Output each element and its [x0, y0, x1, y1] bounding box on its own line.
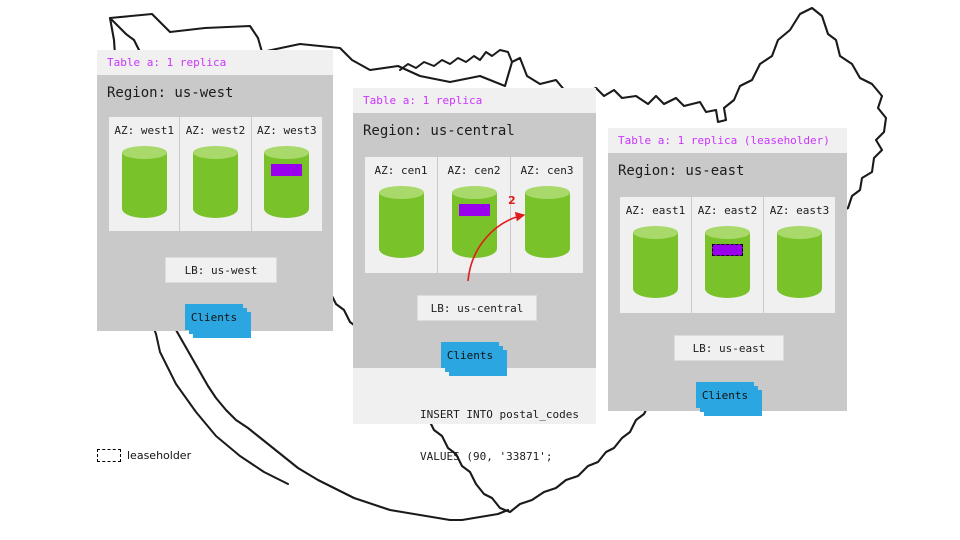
- node-cylinder-cen3[interactable]: [525, 186, 570, 258]
- region-panel-us-east: Table a: 1 replica (leaseholder) Region:…: [608, 128, 847, 411]
- cylinder-top: [379, 186, 424, 199]
- region-label-us-central: Region: us-central: [353, 113, 596, 147]
- load-balancer-us-west[interactable]: LB: us-west: [165, 257, 277, 283]
- az-cell-west2[interactable]: AZ: west2: [180, 117, 251, 231]
- cylinder-top: [264, 146, 309, 159]
- cylinder-body: [633, 232, 678, 298]
- az-label-cen1: AZ: cen1: [375, 164, 428, 177]
- node-cylinder-east1[interactable]: [633, 226, 678, 298]
- az-label-west2: AZ: west2: [186, 124, 246, 137]
- replica-block-east2-leaseholder[interactable]: [712, 244, 743, 256]
- region-panel-us-west: Table a: 1 replica Region: us-west AZ: w…: [97, 50, 333, 331]
- region-label-us-east: Region: us-east: [608, 153, 847, 187]
- cylinder-top: [193, 146, 238, 159]
- sql-line-1: INSERT INTO postal_codes: [420, 408, 579, 422]
- arrow-step-label-2: 2: [508, 194, 516, 207]
- dashed-rect-swatch-icon: [97, 449, 121, 462]
- sql-line-2: VALUES (90, '33871';: [420, 450, 579, 464]
- az-cell-east1[interactable]: AZ: east1: [620, 197, 692, 313]
- region-label-us-west: Region: us-west: [97, 75, 333, 109]
- cylinder-body: [452, 192, 497, 258]
- replica-block-west3[interactable]: [271, 164, 302, 176]
- az-strip-us-west: AZ: west1 AZ: west2 AZ: west3: [109, 117, 322, 231]
- az-cell-cen2[interactable]: AZ: cen2: [438, 157, 511, 273]
- region-body-us-east: Region: us-east AZ: east1 AZ: east2: [608, 153, 847, 411]
- node-cylinder-cen1[interactable]: [379, 186, 424, 258]
- legend-label: leaseholder: [127, 449, 191, 462]
- clients-button-us-east[interactable]: Clients: [696, 382, 754, 408]
- cylinder-body: [705, 232, 750, 298]
- legend: leaseholder: [97, 449, 191, 462]
- az-strip-us-central: AZ: cen1 AZ: cen2 AZ: cen3: [365, 157, 583, 273]
- clients-stack-us-central[interactable]: Clients: [441, 342, 507, 376]
- table-replica-title-west: Table a: 1 replica: [97, 50, 333, 74]
- clients-button-us-west[interactable]: Clients: [185, 304, 243, 330]
- node-cylinder-west1[interactable]: [122, 146, 167, 218]
- node-cylinder-east3[interactable]: [777, 226, 822, 298]
- load-balancer-us-central[interactable]: LB: us-central: [417, 295, 537, 321]
- az-label-east1: AZ: east1: [626, 204, 686, 217]
- az-label-east2: AZ: east2: [698, 204, 758, 217]
- cylinder-top: [452, 186, 497, 199]
- cylinder-body: [777, 232, 822, 298]
- region-body-us-central: Region: us-central AZ: cen1 AZ: cen2: [353, 113, 596, 368]
- az-strip-us-east: AZ: east1 AZ: east2 AZ: east3: [620, 197, 835, 313]
- sql-statement: INSERT INTO postal_codes VALUES (90, '33…: [420, 380, 579, 492]
- az-cell-west3[interactable]: AZ: west3: [252, 117, 322, 231]
- az-cell-east3[interactable]: AZ: east3: [764, 197, 835, 313]
- az-label-cen3: AZ: cen3: [521, 164, 574, 177]
- cylinder-top: [705, 226, 750, 239]
- cylinder-body: [379, 192, 424, 258]
- cylinder-body: [193, 152, 238, 218]
- load-balancer-us-east[interactable]: LB: us-east: [674, 335, 784, 361]
- az-cell-east2[interactable]: AZ: east2: [692, 197, 764, 313]
- region-panel-us-central: Table a: 1 replica Region: us-central AZ…: [353, 88, 596, 424]
- clients-stack-us-west[interactable]: Clients: [185, 304, 251, 338]
- az-cell-cen3[interactable]: AZ: cen3: [511, 157, 583, 273]
- az-label-west3: AZ: west3: [257, 124, 317, 137]
- region-body-us-west: Region: us-west AZ: west1 AZ: west2: [97, 75, 333, 331]
- table-replica-title-east: Table a: 1 replica (leaseholder): [608, 128, 847, 152]
- az-cell-cen1[interactable]: AZ: cen1: [365, 157, 438, 273]
- diagram-canvas: Table a: 1 replica Region: us-west AZ: w…: [0, 0, 960, 540]
- az-label-cen2: AZ: cen2: [448, 164, 501, 177]
- node-cylinder-west3[interactable]: [264, 146, 309, 218]
- cylinder-top: [122, 146, 167, 159]
- cylinder-top: [777, 226, 822, 239]
- node-cylinder-west2[interactable]: [193, 146, 238, 218]
- cylinder-top: [525, 186, 570, 199]
- az-label-east3: AZ: east3: [770, 204, 830, 217]
- node-cylinder-cen2[interactable]: [452, 186, 497, 258]
- replica-block-cen2[interactable]: [459, 204, 490, 216]
- clients-stack-us-east[interactable]: Clients: [696, 382, 762, 416]
- node-cylinder-east2[interactable]: [705, 226, 750, 298]
- cylinder-body: [122, 152, 167, 218]
- az-cell-west1[interactable]: AZ: west1: [109, 117, 180, 231]
- table-replica-title-central: Table a: 1 replica: [353, 88, 596, 112]
- cylinder-body: [264, 152, 309, 218]
- clients-button-us-central[interactable]: Clients: [441, 342, 499, 368]
- cylinder-body: [525, 192, 570, 258]
- az-label-west1: AZ: west1: [114, 124, 174, 137]
- cylinder-top: [633, 226, 678, 239]
